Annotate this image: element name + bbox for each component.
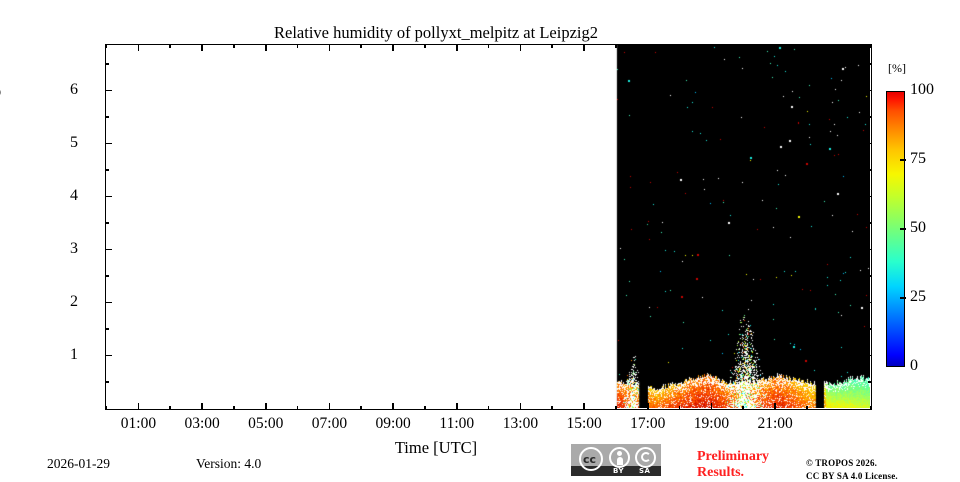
x-tick-minor <box>806 406 808 410</box>
y-tick-label-4: 4 <box>38 188 78 204</box>
x-tick-minor <box>297 44 299 48</box>
y-tick-2 <box>105 302 112 304</box>
creative-commons-license-icon[interactable]: cc BY SA <box>571 444 661 476</box>
x-tick-minor <box>551 406 553 410</box>
y-tick-right-6 <box>865 90 872 92</box>
copyright-line-2: CC BY SA 4.0 License. <box>806 470 956 482</box>
x-tick-17:00 <box>647 403 649 410</box>
x-tick-label-11:00: 11:00 <box>422 416 492 432</box>
x-tick-minor <box>106 406 108 410</box>
humidity-heatmap <box>106 45 870 408</box>
x-tick-minor <box>488 44 490 48</box>
x-tick-01:00 <box>138 403 140 410</box>
colorbar-tick-label-100: 100 <box>910 82 934 98</box>
y-tick-label-5: 5 <box>38 135 78 151</box>
y-tick-label-6: 6 <box>38 82 78 98</box>
x-tick-top <box>329 44 331 51</box>
x-tick-11:00 <box>456 403 458 410</box>
copyright-line-1: © TROPOS 2026. <box>806 457 956 470</box>
y-tick-minor <box>868 116 872 118</box>
y-tick-1 <box>105 355 112 357</box>
y-tick-3 <box>105 249 112 251</box>
colorbar-tick-label-75: 75 <box>910 151 926 167</box>
y-tick-right-2 <box>865 302 872 304</box>
x-tick-label-09:00: 09:00 <box>358 416 428 432</box>
x-tick-minor <box>233 44 235 48</box>
x-tick-label-01:00: 01:00 <box>103 416 173 432</box>
y-tick-minor <box>868 63 872 65</box>
sa-label: SA <box>639 467 650 475</box>
x-tick-top <box>392 44 394 51</box>
y-tick-label-1: 1 <box>38 347 78 363</box>
x-tick-minor <box>424 406 426 410</box>
colorbar-tick-label-25: 25 <box>910 289 926 305</box>
x-tick-label-13:00: 13:00 <box>485 416 555 432</box>
y-tick-minor <box>105 328 109 330</box>
by-label: BY <box>613 467 624 475</box>
y-tick-right-3 <box>865 249 872 251</box>
by-person-head <box>617 451 622 456</box>
x-tick-label-05:00: 05:00 <box>231 416 301 432</box>
colorbar-tick-50 <box>900 228 906 229</box>
x-tick-minor <box>742 44 744 48</box>
x-tick-top <box>138 44 140 51</box>
x-tick-minor <box>615 44 617 48</box>
cc-label: cc <box>583 453 596 466</box>
colorbar-tick-25 <box>900 297 906 298</box>
x-tick-label-15:00: 15:00 <box>549 416 619 432</box>
y-axis-label: Height [km] <box>0 0 2 180</box>
x-tick-top <box>711 44 713 51</box>
x-tick-minor <box>551 44 553 48</box>
x-tick-minor <box>169 406 171 410</box>
y-tick-right-1 <box>865 355 872 357</box>
y-tick-minor <box>868 275 872 277</box>
x-tick-minor <box>424 44 426 48</box>
x-tick-15:00 <box>583 403 585 410</box>
x-tick-07:00 <box>329 403 331 410</box>
x-tick-minor <box>679 406 681 410</box>
x-tick-03:00 <box>201 403 203 410</box>
x-tick-minor <box>106 44 108 48</box>
x-tick-label-03:00: 03:00 <box>167 416 237 432</box>
x-tick-minor <box>360 406 362 410</box>
y-tick-right-4 <box>865 196 872 198</box>
preliminary-results-notice: Preliminary Results. <box>697 449 807 481</box>
colorbar-tick-75 <box>900 159 906 160</box>
copyright-notice: © TROPOS 2026. CC BY SA 4.0 License. <box>806 457 956 482</box>
y-tick-minor <box>105 116 109 118</box>
y-tick-5 <box>105 143 112 145</box>
x-tick-label-07:00: 07:00 <box>294 416 364 432</box>
x-tick-label-19:00: 19:00 <box>676 416 746 432</box>
x-tick-top <box>774 44 776 51</box>
y-tick-4 <box>105 196 112 198</box>
sa-arrow-circle <box>641 452 651 462</box>
colorbar-tick-label-50: 50 <box>910 220 926 236</box>
y-tick-label-3: 3 <box>38 241 78 257</box>
x-tick-minor <box>297 406 299 410</box>
x-tick-label-17:00: 17:00 <box>613 416 683 432</box>
y-tick-minor <box>105 381 109 383</box>
x-tick-top <box>265 44 267 51</box>
x-tick-top <box>201 44 203 51</box>
x-tick-label-21:00: 21:00 <box>740 416 810 432</box>
x-tick-minor <box>169 44 171 48</box>
y-tick-right-5 <box>865 143 872 145</box>
x-tick-minor <box>806 44 808 48</box>
y-tick-6 <box>105 90 112 92</box>
x-tick-minor <box>488 406 490 410</box>
x-tick-top <box>456 44 458 51</box>
y-tick-minor <box>105 169 109 171</box>
x-tick-minor <box>679 44 681 48</box>
y-tick-minor <box>105 222 109 224</box>
colorbar-tick-label-0: 0 <box>910 358 918 374</box>
x-tick-minor <box>615 406 617 410</box>
y-tick-minor <box>868 381 872 383</box>
x-tick-top <box>520 44 522 51</box>
by-person-body <box>617 457 623 465</box>
preliminary-line-2: Results. <box>697 465 807 481</box>
colorbar-units-label: [%] <box>888 61 906 76</box>
x-tick-minor <box>870 406 872 410</box>
x-tick-19:00 <box>711 403 713 410</box>
plot-area <box>105 44 872 410</box>
x-tick-minor <box>233 406 235 410</box>
y-tick-minor <box>105 63 109 65</box>
y-tick-label-2: 2 <box>38 294 78 310</box>
y-tick-minor <box>868 222 872 224</box>
preliminary-line-1: Preliminary <box>697 449 807 465</box>
x-tick-21:00 <box>774 403 776 410</box>
x-tick-05:00 <box>265 403 267 410</box>
footer-version: Version: 4.0 <box>196 456 261 472</box>
x-tick-top <box>583 44 585 51</box>
x-tick-minor <box>870 44 872 48</box>
x-tick-09:00 <box>392 403 394 410</box>
page-title: Relative humidity of pollyxt_melpitz at … <box>0 23 872 43</box>
footer-date: 2026-01-29 <box>47 456 110 472</box>
y-tick-minor <box>105 275 109 277</box>
x-tick-top <box>647 44 649 51</box>
y-tick-minor <box>868 169 872 171</box>
x-tick-13:00 <box>520 403 522 410</box>
x-tick-minor <box>360 44 362 48</box>
y-tick-minor <box>868 328 872 330</box>
x-tick-minor <box>742 406 744 410</box>
